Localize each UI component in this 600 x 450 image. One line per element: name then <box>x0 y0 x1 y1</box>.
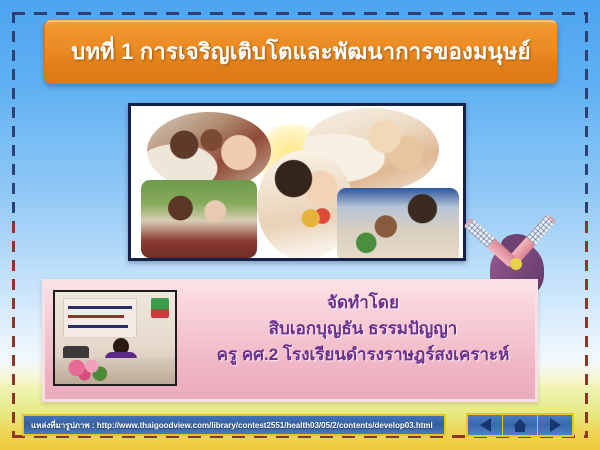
home-button[interactable]: home-icon <box>503 415 538 435</box>
banner-line-1 <box>68 306 132 309</box>
banner-line-2 <box>68 315 124 318</box>
presentation-slide: บทที่ 1 การเจริญเติบโตและพัฒนาการของมนุษ… <box>0 0 600 450</box>
banner-line-3 <box>68 325 128 328</box>
classroom-presenter-photo <box>53 290 177 386</box>
windmill-lattice-2 <box>465 219 495 248</box>
credits-line-2: สิบเอกบุญธัน ธรรมปัญญา <box>195 316 531 342</box>
credits-line-1: จัดทำโดย <box>195 290 531 316</box>
slide-title-banner: บทที่ 1 การเจริญเติบโตและพัฒนาการของมนุษ… <box>44 20 558 84</box>
border-top <box>12 12 588 15</box>
photo-father-playing-with-toddler <box>141 180 257 258</box>
banner-logo <box>151 298 169 318</box>
page-title: บทที่ 1 การเจริญเติบโตและพัฒนาการของมนุษ… <box>71 39 530 64</box>
forward-button[interactable]: forward-arrow-icon <box>538 415 572 435</box>
source-url-text: แหล่งที่มารูปภาพ : http://www.thaigoodvi… <box>31 419 433 432</box>
collage-canvas <box>131 106 463 258</box>
navigation-buttons: back-arrow-icon home-icon forward-arrow-… <box>466 413 574 437</box>
windmill-hub <box>510 258 522 270</box>
forward-arrow-icon <box>550 418 561 432</box>
photo-flower-arrangement <box>67 360 107 382</box>
home-icon <box>513 419 527 432</box>
home-body <box>515 425 525 432</box>
source-url-bar[interactable]: แหล่งที่มารูปภาพ : http://www.thaigoodvi… <box>22 414 446 436</box>
photo-baby-playing-with-toys <box>337 188 459 261</box>
credits-panel: จัดทำโดย สิบเอกบุญธัน ธรรมปัญญา ครู คศ.2… <box>42 279 538 402</box>
credits-line-3: ครู คศ.2 โรงเรียนดำรงราษฎร์สงเคราะห์ <box>195 342 531 368</box>
back-button[interactable]: back-arrow-icon <box>468 415 503 435</box>
windmill-lattice-1 <box>526 215 555 245</box>
border-left-upper <box>12 12 15 227</box>
credits-text-block: จัดทำโดย สิบเอกบุญธัน ธรรมปัญญา ครู คศ.2… <box>195 290 531 367</box>
photo-parents-with-baby <box>147 112 271 190</box>
photo-backdrop-banner <box>63 298 137 338</box>
photo-collage <box>128 103 466 261</box>
back-arrow-icon <box>480 418 491 432</box>
